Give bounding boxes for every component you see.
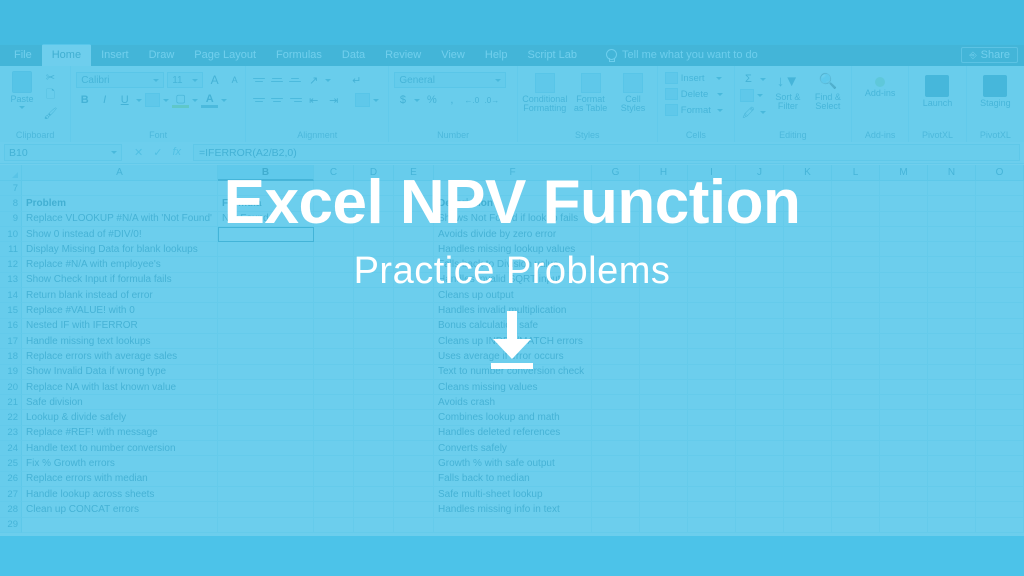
bold-button[interactable]: B <box>76 92 93 108</box>
cut-icon[interactable]: ✂ <box>42 69 59 85</box>
tab-help[interactable]: Help <box>475 44 518 66</box>
find-select-button[interactable]: 🔍 Find & Select <box>810 71 846 112</box>
tab-script-lab[interactable]: Script Lab <box>518 44 588 66</box>
cell-I15[interactable] <box>688 303 736 318</box>
underline-button[interactable]: U <box>116 92 133 108</box>
increase-decimal-icon[interactable]: ←.0 <box>463 92 480 108</box>
cell-M19[interactable] <box>880 365 928 380</box>
cell-L23[interactable] <box>832 426 880 441</box>
cell-M24[interactable] <box>880 441 928 456</box>
cell-J7[interactable] <box>736 181 784 196</box>
cell-O15[interactable] <box>976 303 1024 318</box>
cell-E20[interactable] <box>394 380 434 395</box>
cell-N28[interactable] <box>928 502 976 517</box>
cell-K21[interactable] <box>784 395 832 410</box>
format-chevron-down-icon[interactable] <box>717 109 723 112</box>
row-header-16[interactable]: 16 <box>0 319 22 334</box>
cell-K20[interactable] <box>784 380 832 395</box>
row-header-9[interactable]: 9 <box>0 212 22 227</box>
cell-H13[interactable] <box>640 273 688 288</box>
cell-H9[interactable] <box>640 212 688 227</box>
column-header-D[interactable]: D <box>354 165 394 181</box>
cell-G20[interactable] <box>592 380 640 395</box>
cell-C24[interactable] <box>314 441 354 456</box>
cell-D27[interactable] <box>354 487 394 502</box>
cell-H18[interactable] <box>640 349 688 364</box>
cell-E16[interactable] <box>394 319 434 334</box>
cell-D7[interactable] <box>354 181 394 196</box>
cell-G7[interactable] <box>592 181 640 196</box>
cell-D23[interactable] <box>354 426 394 441</box>
cell-N7[interactable] <box>928 181 976 196</box>
cell-L29[interactable] <box>832 518 880 533</box>
cell-C10[interactable] <box>314 227 354 242</box>
cell-J27[interactable] <box>736 487 784 502</box>
cell-J10[interactable] <box>736 227 784 242</box>
cell-M15[interactable] <box>880 303 928 318</box>
merge-center-icon[interactable] <box>355 93 370 107</box>
cell-J13[interactable] <box>736 273 784 288</box>
column-header-F[interactable]: F <box>434 165 592 181</box>
cell-D26[interactable] <box>354 472 394 487</box>
paintbrush-icon[interactable]: 🖌 <box>42 105 59 121</box>
align-top-icon[interactable] <box>251 74 266 87</box>
cell-I22[interactable] <box>688 410 736 425</box>
cell-F11[interactable]: Handles missing lookup values <box>434 242 592 257</box>
cell-O22[interactable] <box>976 410 1024 425</box>
clear-chevron-down-icon[interactable] <box>760 111 766 114</box>
cell-B29[interactable] <box>218 518 314 533</box>
cell-M17[interactable] <box>880 334 928 349</box>
insert-cells-button[interactable]: Insert <box>663 71 725 85</box>
cell-E28[interactable] <box>394 502 434 517</box>
cell-F25[interactable]: Growth % with safe output <box>434 456 592 471</box>
cell-B26[interactable] <box>218 472 314 487</box>
cell-J29[interactable] <box>736 518 784 533</box>
cell-F23[interactable]: Handles deleted references <box>434 426 592 441</box>
row-header-21[interactable]: 21 <box>0 395 22 410</box>
cell-H11[interactable] <box>640 242 688 257</box>
merge-chevron-down-icon[interactable] <box>373 99 379 102</box>
cell-O26[interactable] <box>976 472 1024 487</box>
cell-M20[interactable] <box>880 380 928 395</box>
cell-H29[interactable] <box>640 518 688 533</box>
increase-indent-icon[interactable]: ⇥ <box>325 92 342 108</box>
cell-H16[interactable] <box>640 319 688 334</box>
column-header-A[interactable]: A <box>22 165 218 181</box>
cell-M27[interactable] <box>880 487 928 502</box>
cell-C19[interactable] <box>314 365 354 380</box>
cell-N13[interactable] <box>928 273 976 288</box>
cell-M8[interactable] <box>880 196 928 211</box>
cell-I18[interactable] <box>688 349 736 364</box>
cell-K18[interactable] <box>784 349 832 364</box>
cell-I28[interactable] <box>688 502 736 517</box>
cell-K17[interactable] <box>784 334 832 349</box>
cell-J12[interactable] <box>736 257 784 272</box>
tab-home[interactable]: Home <box>42 44 91 66</box>
cell-styles-button[interactable]: Cell Styles <box>614 71 652 114</box>
paste-button[interactable]: Paste <box>5 69 39 109</box>
font-name-input[interactable]: Calibri <box>76 72 164 88</box>
column-header-I[interactable]: I <box>688 165 736 181</box>
cell-G11[interactable] <box>592 242 640 257</box>
cell-D20[interactable] <box>354 380 394 395</box>
cell-N11[interactable] <box>928 242 976 257</box>
cell-L27[interactable] <box>832 487 880 502</box>
cell-L12[interactable] <box>832 257 880 272</box>
cell-D14[interactable] <box>354 288 394 303</box>
cell-I12[interactable] <box>688 257 736 272</box>
cell-A10[interactable]: Show 0 instead of #DIV/0! <box>22 227 218 242</box>
autosum-chevron-down-icon[interactable] <box>760 78 766 81</box>
cell-H24[interactable] <box>640 441 688 456</box>
cell-H19[interactable] <box>640 365 688 380</box>
cell-L24[interactable] <box>832 441 880 456</box>
cell-A9[interactable]: Replace VLOOKUP #N/A with 'Not Found' <box>22 212 218 227</box>
borders-chevron-down-icon[interactable] <box>163 99 169 102</box>
cell-N24[interactable] <box>928 441 976 456</box>
cell-O11[interactable] <box>976 242 1024 257</box>
cell-N8[interactable] <box>928 196 976 211</box>
cell-N10[interactable] <box>928 227 976 242</box>
cell-E26[interactable] <box>394 472 434 487</box>
cell-O29[interactable] <box>976 518 1024 533</box>
cell-F13[interactable]: Handles invalid SQRT input <box>434 273 592 288</box>
cell-B21[interactable] <box>218 395 314 410</box>
currency-format-icon[interactable]: $ <box>394 92 411 108</box>
italic-button[interactable]: I <box>96 92 113 108</box>
column-header-C[interactable]: C <box>314 165 354 181</box>
copy-icon[interactable]: 🗋 <box>42 87 59 103</box>
cell-J18[interactable] <box>736 349 784 364</box>
cell-M21[interactable] <box>880 395 928 410</box>
tell-me-search[interactable]: Tell me what you want to do <box>605 44 758 66</box>
cell-F18[interactable]: Uses average if error occurs <box>434 349 592 364</box>
cell-J20[interactable] <box>736 380 784 395</box>
cell-L22[interactable] <box>832 410 880 425</box>
name-box[interactable]: B10 <box>4 144 122 161</box>
cell-E12[interactable] <box>394 257 434 272</box>
cell-K7[interactable] <box>784 181 832 196</box>
cell-F10[interactable]: Avoids divide by zero error <box>434 227 592 242</box>
cell-F26[interactable]: Falls back to median <box>434 472 592 487</box>
row-header-29[interactable]: 29 <box>0 518 22 533</box>
cell-G16[interactable] <box>592 319 640 334</box>
cell-N25[interactable] <box>928 456 976 471</box>
cell-I19[interactable] <box>688 365 736 380</box>
align-middle-icon[interactable] <box>269 74 284 87</box>
cell-O7[interactable] <box>976 181 1024 196</box>
insert-chevron-down-icon[interactable] <box>716 77 722 80</box>
cancel-icon[interactable]: ✕ <box>134 146 143 159</box>
cell-O23[interactable] <box>976 426 1024 441</box>
cell-O28[interactable] <box>976 502 1024 517</box>
cell-B25[interactable] <box>218 456 314 471</box>
cell-B20[interactable] <box>218 380 314 395</box>
cell-I10[interactable] <box>688 227 736 242</box>
cell-A17[interactable]: Handle missing text lookups <box>22 334 218 349</box>
cell-B13[interactable] <box>218 273 314 288</box>
cell-E23[interactable] <box>394 426 434 441</box>
cell-B17[interactable] <box>218 334 314 349</box>
cell-N23[interactable] <box>928 426 976 441</box>
cell-O18[interactable] <box>976 349 1024 364</box>
cell-L16[interactable] <box>832 319 880 334</box>
cell-K29[interactable] <box>784 518 832 533</box>
row-header-10[interactable]: 10 <box>0 227 22 242</box>
row-header-20[interactable]: 20 <box>0 380 22 395</box>
cell-I11[interactable] <box>688 242 736 257</box>
row-header-25[interactable]: 25 <box>0 456 22 471</box>
cell-A26[interactable]: Replace errors with median <box>22 472 218 487</box>
addins-button[interactable]: Add-ins <box>858 75 902 98</box>
cell-G10[interactable] <box>592 227 640 242</box>
row-header-14[interactable]: 14 <box>0 288 22 303</box>
orientation-icon[interactable]: ↗ <box>305 72 322 88</box>
grow-font-icon[interactable]: A <box>206 72 223 88</box>
cell-K9[interactable] <box>784 212 832 227</box>
cell-A24[interactable]: Handle text to number conversion <box>22 441 218 456</box>
shrink-font-icon[interactable]: A <box>226 72 243 88</box>
cell-A14[interactable]: Return blank instead of error <box>22 288 218 303</box>
cell-L21[interactable] <box>832 395 880 410</box>
cell-N27[interactable] <box>928 487 976 502</box>
tab-page-layout[interactable]: Page Layout <box>184 44 266 66</box>
cell-C23[interactable] <box>314 426 354 441</box>
cell-N22[interactable] <box>928 410 976 425</box>
cell-I9[interactable] <box>688 212 736 227</box>
cell-L9[interactable] <box>832 212 880 227</box>
cell-I29[interactable] <box>688 518 736 533</box>
cell-I13[interactable] <box>688 273 736 288</box>
cell-D22[interactable] <box>354 410 394 425</box>
percent-format-icon[interactable]: % <box>423 92 440 108</box>
row-header-23[interactable]: 23 <box>0 426 22 441</box>
cell-J22[interactable] <box>736 410 784 425</box>
cell-I16[interactable] <box>688 319 736 334</box>
font-color-chevron-down-icon[interactable] <box>221 99 227 102</box>
cell-N18[interactable] <box>928 349 976 364</box>
cell-H23[interactable] <box>640 426 688 441</box>
cell-H14[interactable] <box>640 288 688 303</box>
cell-B14[interactable] <box>218 288 314 303</box>
cell-C21[interactable] <box>314 395 354 410</box>
cell-E29[interactable] <box>394 518 434 533</box>
cell-M16[interactable] <box>880 319 928 334</box>
cell-C11[interactable] <box>314 242 354 257</box>
cell-H17[interactable] <box>640 334 688 349</box>
cell-L17[interactable] <box>832 334 880 349</box>
cell-M9[interactable] <box>880 212 928 227</box>
cell-D8[interactable] <box>354 196 394 211</box>
cell-O10[interactable] <box>976 227 1024 242</box>
cell-L20[interactable] <box>832 380 880 395</box>
column-header-K[interactable]: K <box>784 165 832 181</box>
cell-K24[interactable] <box>784 441 832 456</box>
delete-cells-button[interactable]: Delete <box>663 87 725 101</box>
cell-E25[interactable] <box>394 456 434 471</box>
cell-O19[interactable] <box>976 365 1024 380</box>
format-as-table-button[interactable]: Format as Table <box>572 71 610 114</box>
cell-K10[interactable] <box>784 227 832 242</box>
cell-I17[interactable] <box>688 334 736 349</box>
cell-E22[interactable] <box>394 410 434 425</box>
sigma-icon[interactable]: Σ <box>740 71 757 87</box>
row-header-19[interactable]: 19 <box>0 365 22 380</box>
cell-H26[interactable] <box>640 472 688 487</box>
cell-K25[interactable] <box>784 456 832 471</box>
cell-E8[interactable] <box>394 196 434 211</box>
cell-H10[interactable] <box>640 227 688 242</box>
cell-H7[interactable] <box>640 181 688 196</box>
font-color-icon[interactable]: A <box>201 93 218 108</box>
cell-B23[interactable] <box>218 426 314 441</box>
cell-J8[interactable] <box>736 196 784 211</box>
cell-E19[interactable] <box>394 365 434 380</box>
row-header-13[interactable]: 13 <box>0 273 22 288</box>
cell-L26[interactable] <box>832 472 880 487</box>
cell-H27[interactable] <box>640 487 688 502</box>
cell-F16[interactable]: Bonus calculation safe <box>434 319 592 334</box>
cell-C22[interactable] <box>314 410 354 425</box>
fill-chevron-down-icon[interactable] <box>192 99 198 102</box>
cell-G25[interactable] <box>592 456 640 471</box>
cell-J17[interactable] <box>736 334 784 349</box>
column-header-J[interactable]: J <box>736 165 784 181</box>
column-header-E[interactable]: E <box>394 165 434 181</box>
decrease-indent-icon[interactable]: ⇤ <box>305 92 322 108</box>
row-header-24[interactable]: 24 <box>0 441 22 456</box>
cell-O12[interactable] <box>976 257 1024 272</box>
cell-C28[interactable] <box>314 502 354 517</box>
cell-I25[interactable] <box>688 456 736 471</box>
delete-chevron-down-icon[interactable] <box>717 93 723 96</box>
cell-C29[interactable] <box>314 518 354 533</box>
cell-J9[interactable] <box>736 212 784 227</box>
cell-E15[interactable] <box>394 303 434 318</box>
number-format-select[interactable]: General <box>394 72 506 88</box>
row-header-7[interactable]: 7 <box>0 181 22 196</box>
cell-B24[interactable] <box>218 441 314 456</box>
cell-C16[interactable] <box>314 319 354 334</box>
cell-B22[interactable] <box>218 410 314 425</box>
cell-L28[interactable] <box>832 502 880 517</box>
orientation-chevron-down-icon[interactable] <box>325 79 331 82</box>
cell-O20[interactable] <box>976 380 1024 395</box>
cell-N14[interactable] <box>928 288 976 303</box>
fx-icon[interactable]: fx <box>172 146 181 159</box>
cell-I23[interactable] <box>688 426 736 441</box>
cell-D28[interactable] <box>354 502 394 517</box>
cell-H20[interactable] <box>640 380 688 395</box>
cell-I24[interactable] <box>688 441 736 456</box>
cell-M13[interactable] <box>880 273 928 288</box>
cell-N16[interactable] <box>928 319 976 334</box>
cell-N9[interactable] <box>928 212 976 227</box>
cell-E27[interactable] <box>394 487 434 502</box>
cell-D16[interactable] <box>354 319 394 334</box>
row-header-28[interactable]: 28 <box>0 502 22 517</box>
cell-L10[interactable] <box>832 227 880 242</box>
cell-B7[interactable] <box>218 181 314 196</box>
cell-D29[interactable] <box>354 518 394 533</box>
row-header-22[interactable]: 22 <box>0 410 22 425</box>
cell-C18[interactable] <box>314 349 354 364</box>
cell-E17[interactable] <box>394 334 434 349</box>
cell-G17[interactable] <box>592 334 640 349</box>
cell-I26[interactable] <box>688 472 736 487</box>
currency-chevron-down-icon[interactable] <box>414 99 420 102</box>
cell-G22[interactable] <box>592 410 640 425</box>
cell-J23[interactable] <box>736 426 784 441</box>
share-button[interactable]: ⎆ Share <box>961 47 1018 63</box>
cell-D19[interactable] <box>354 365 394 380</box>
underline-chevron-down-icon[interactable] <box>136 99 142 102</box>
cell-G9[interactable] <box>592 212 640 227</box>
cell-M18[interactable] <box>880 349 928 364</box>
cell-L14[interactable] <box>832 288 880 303</box>
column-header-G[interactable]: G <box>592 165 640 181</box>
cell-H25[interactable] <box>640 456 688 471</box>
cell-J11[interactable] <box>736 242 784 257</box>
row-header-27[interactable]: 27 <box>0 487 22 502</box>
cell-C14[interactable] <box>314 288 354 303</box>
tab-insert[interactable]: Insert <box>91 44 139 66</box>
cell-G27[interactable] <box>592 487 640 502</box>
cell-G14[interactable] <box>592 288 640 303</box>
cell-L19[interactable] <box>832 365 880 380</box>
cell-I7[interactable] <box>688 181 736 196</box>
cell-E13[interactable] <box>394 273 434 288</box>
cell-L15[interactable] <box>832 303 880 318</box>
cell-O14[interactable] <box>976 288 1024 303</box>
cell-E11[interactable] <box>394 242 434 257</box>
row-header-26[interactable]: 26 <box>0 472 22 487</box>
cell-F15[interactable]: Handles invalid multiplication <box>434 303 592 318</box>
cell-G24[interactable] <box>592 441 640 456</box>
cell-O27[interactable] <box>976 487 1024 502</box>
column-header-O[interactable]: O <box>976 165 1024 181</box>
column-header-B[interactable]: B <box>218 165 314 181</box>
tab-review[interactable]: Review <box>375 44 431 66</box>
comma-format-icon[interactable]: , <box>443 92 460 108</box>
cell-L18[interactable] <box>832 349 880 364</box>
decrease-decimal-icon[interactable]: .0→ <box>483 92 500 108</box>
column-header-L[interactable]: L <box>832 165 880 181</box>
eraser-icon[interactable]: 🖍 <box>740 104 757 120</box>
cell-A25[interactable]: Fix % Growth errors <box>22 456 218 471</box>
cell-B9[interactable]: Not Found <box>218 212 314 227</box>
cell-D17[interactable] <box>354 334 394 349</box>
cell-E7[interactable] <box>394 181 434 196</box>
cell-B27[interactable] <box>218 487 314 502</box>
cell-O13[interactable] <box>976 273 1024 288</box>
cell-K15[interactable] <box>784 303 832 318</box>
cell-L13[interactable] <box>832 273 880 288</box>
cell-M28[interactable] <box>880 502 928 517</box>
cell-J21[interactable] <box>736 395 784 410</box>
cell-G28[interactable] <box>592 502 640 517</box>
cell-K22[interactable] <box>784 410 832 425</box>
cell-A20[interactable]: Replace NA with last known value <box>22 380 218 395</box>
cell-A19[interactable]: Show Invalid Data if wrong type <box>22 365 218 380</box>
cell-C13[interactable] <box>314 273 354 288</box>
cell-H8[interactable] <box>640 196 688 211</box>
column-header-H[interactable]: H <box>640 165 688 181</box>
cell-A12[interactable]: Replace #N/A with employee's <box>22 257 218 272</box>
cell-M29[interactable] <box>880 518 928 533</box>
